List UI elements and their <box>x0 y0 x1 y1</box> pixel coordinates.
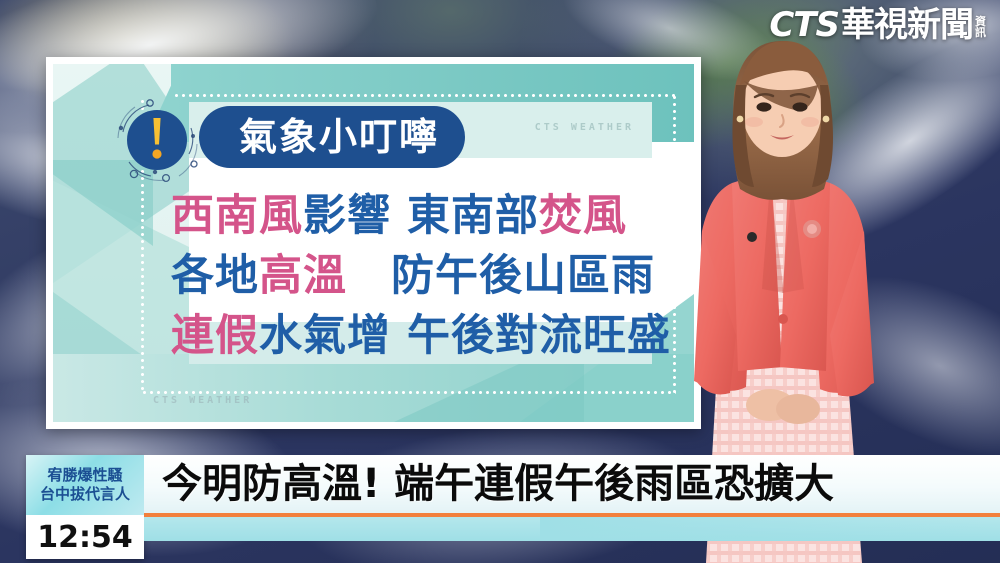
panel-message-lines: 西南風影響 東南部焚風 各地高溫 防午後山區雨 連假水氣增 午後對流旺盛 <box>171 186 664 366</box>
ticker-left-box: 宥勝爆性騷 台中拔代言人 12:54 <box>26 455 144 559</box>
ticker-band-fade <box>540 517 1000 541</box>
panel-watermark-top: CTS WEATHER <box>535 122 634 133</box>
clock-box: 12:54 <box>26 515 144 559</box>
message-segment-blue: 水氣增 午後對流旺盛 <box>259 311 671 361</box>
message-segment-blue: 影響 東南部 <box>303 191 539 241</box>
message-segment-blue: 防午後山區雨 <box>347 251 655 301</box>
message-segment-pink: 焚風 <box>539 191 627 241</box>
channel-logo-sub-bottom: 訊 <box>975 28 986 40</box>
weather-tips-panel: CTS WEATHER CTS WEATHER <box>46 57 701 429</box>
exclamation-alert-icon <box>105 88 209 192</box>
ticker-topic-box[interactable]: 宥勝爆性騷 台中拔代言人 <box>26 455 144 515</box>
headline-text: 今明防高溫! 端午連假午後雨區恐擴大 <box>144 464 834 504</box>
clock-time: 12:54 <box>37 520 133 555</box>
message-segment-pink: 西南風 <box>171 191 303 241</box>
ticker-topic-line-2: 台中拔代言人 <box>40 486 130 503</box>
channel-logo-latin: CTS <box>769 8 839 42</box>
headline-bar: 今明防高溫! 端午連假午後雨區恐擴大 <box>144 455 1000 513</box>
panel-inner: CTS WEATHER CTS WEATHER <box>53 64 694 422</box>
dotted-guide-bottom <box>141 391 676 394</box>
message-segment-blue: 各地 <box>171 251 259 301</box>
ticker-topic-line-1: 宥勝爆性騷 <box>47 467 122 484</box>
channel-logo-hanzi: 華視新聞 <box>841 8 973 42</box>
message-segment-pink: 高溫 <box>259 251 347 301</box>
channel-logo-sub: 資 訊 <box>975 17 986 40</box>
panel-title-badge: 氣象小叮嚀 <box>199 106 465 168</box>
panel-watermark-bottom: CTS WEATHER <box>153 395 252 406</box>
message-line-1: 西南風影響 東南部焚風 <box>171 186 664 246</box>
lower-third: 宥勝爆性騷 台中拔代言人 12:54 今明防高溫! 端午連假午後雨區恐擴大 <box>0 451 1000 563</box>
message-segment-pink: 連假 <box>171 311 259 361</box>
dotted-guide-right <box>673 94 676 394</box>
channel-logo: CTS 華視新聞 資 訊 <box>769 8 986 42</box>
broadcast-frame: CTS 華視新聞 資 訊 CTS WEATHER CT <box>0 0 1000 563</box>
dotted-guide-top <box>173 94 676 97</box>
message-line-3: 連假水氣增 午後對流旺盛 <box>171 306 664 366</box>
message-line-2: 各地高溫 防午後山區雨 <box>171 246 664 306</box>
panel-title-text: 氣象小叮嚀 <box>239 118 439 156</box>
